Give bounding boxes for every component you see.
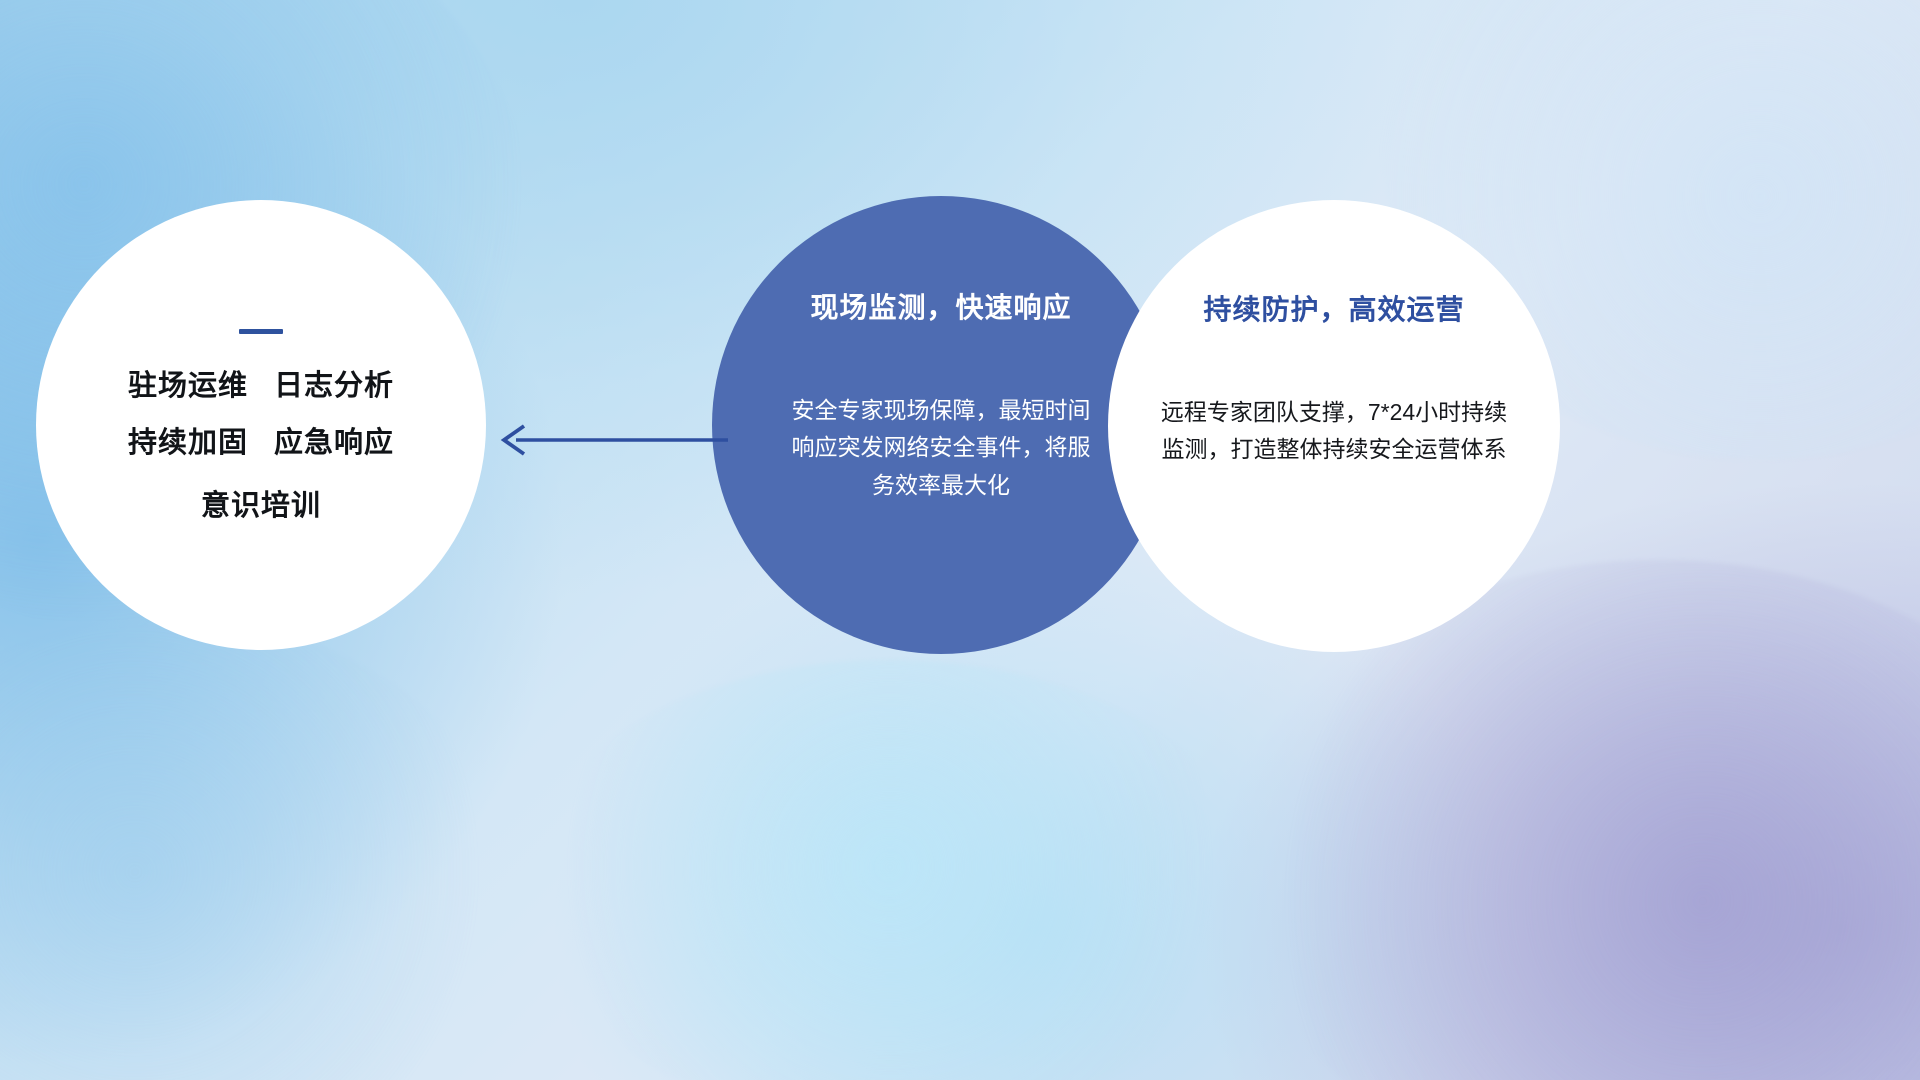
service-tag-continuous-hardening: 持续加固: [128, 427, 248, 459]
decorative-blob-bottom-left: [0, 620, 520, 1080]
service-tag-emergency-response: 应急响应: [274, 427, 394, 459]
slide-canvas: 驻场运维日志分析 持续加固应急响应 意识培训 现场监测，快速响应 安全专家现场保…: [0, 0, 1920, 1080]
middle-circle-content: 现场监测，快速响应 安全专家现场保障，最短时间响应突发网络安全事件，将服务效率最…: [712, 196, 1170, 654]
service-row-1: 驻场运维日志分析: [128, 372, 394, 401]
service-tag-awareness-training: 意识培训: [201, 490, 321, 522]
service-row-3: 意识培训: [201, 492, 321, 521]
right-circle-title: 持续防护，高效运营: [1203, 296, 1464, 324]
accent-dash: [239, 329, 283, 334]
service-tag-onsite-ops: 驻场运维: [128, 370, 248, 402]
left-service-circle[interactable]: 驻场运维日志分析 持续加固应急响应 意识培训: [36, 200, 486, 650]
right-circle-body: 远程专家团队支撑，7*24小时持续监测，打造整体持续安全运营体系: [1154, 394, 1514, 469]
middle-circle-title: 现场监测，快速响应: [810, 294, 1071, 322]
service-row-2: 持续加固应急响应: [128, 429, 394, 458]
left-pointing-arrow-icon: [490, 418, 730, 462]
service-tag-log-analysis: 日志分析: [274, 370, 394, 402]
right-circle-content: 持续防护，高效运营 远程专家团队支撑，7*24小时持续监测，打造整体持续安全运营…: [1108, 200, 1560, 652]
middle-circle-body: 安全专家现场保障，最短时间响应突发网络安全事件，将服务效率最大化: [791, 392, 1091, 504]
decorative-blob-bottom-center: [520, 660, 1260, 1080]
